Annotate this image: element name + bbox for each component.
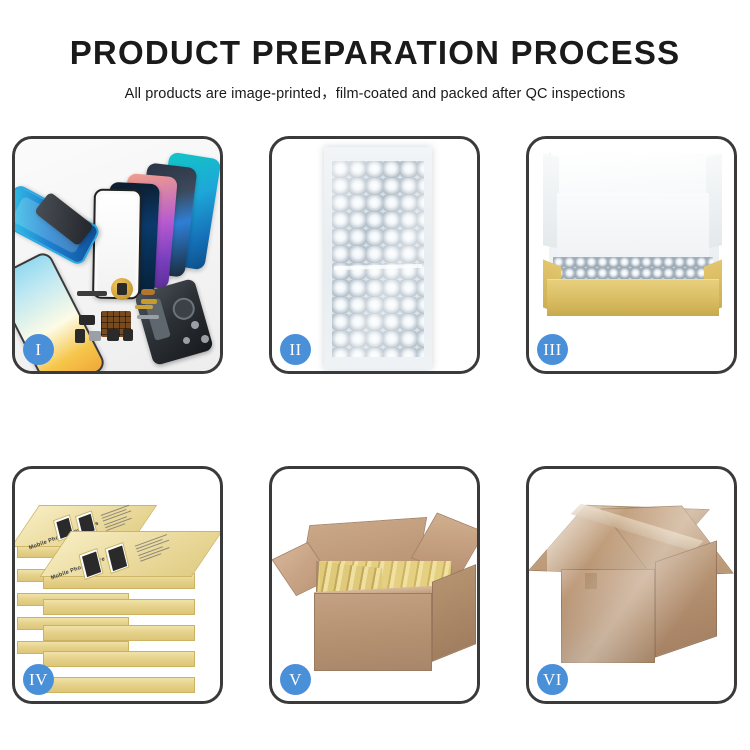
small-module-icon [123, 329, 133, 341]
step-panel-inner-box-packing[interactable]: III [526, 136, 737, 374]
step-badge-3: III [537, 334, 568, 365]
carton-tab-upper [585, 573, 597, 589]
screw-icon [183, 337, 190, 344]
step-panel-stacked-retail-boxes[interactable]: Mobile Phone Spare Parts Mobile Phone Sp… [12, 466, 223, 704]
process-step-grid: I II [12, 136, 738, 704]
step-panel-bubble-wrap-packaging[interactable]: II [269, 136, 480, 374]
carton-front-face [314, 593, 432, 671]
carton-tab-lower [587, 645, 601, 659]
step-badge-1: I [23, 334, 54, 365]
flex-cable-gold-icon [135, 305, 153, 309]
speaker-part-icon [79, 315, 95, 325]
screw-icon [191, 321, 199, 329]
step-badge-5: V [280, 664, 311, 695]
page-subtitle: All products are image-printed，film-coat… [0, 82, 750, 103]
page-title: PRODUCT PREPARATION PROCESS [0, 36, 750, 71]
bubble-wrap-sheet [324, 147, 432, 369]
metal-bracket-icon [89, 331, 101, 341]
retail-box-front-4 [43, 651, 195, 667]
box-inner-surface [557, 193, 709, 265]
button-part-icon [107, 329, 119, 341]
retail-box-front-3 [43, 625, 195, 641]
box-front-gold [547, 279, 719, 316]
sealed-carton-front-face [561, 569, 655, 663]
step-panel-carton-filling[interactable]: V [269, 466, 480, 704]
step-badge-4: IV [23, 664, 54, 695]
screw-icon [201, 335, 209, 343]
step-badge-2: II [280, 334, 311, 365]
sim-tray-icon [75, 329, 85, 343]
retail-box-front-5 [43, 677, 195, 693]
header: PRODUCT PREPARATION PROCESS All products… [0, 36, 750, 103]
carton-side-face [432, 564, 476, 662]
step-panel-phone-screens-and-parts[interactable]: I [12, 136, 223, 374]
antenna-strip-icon [137, 315, 159, 319]
product-preparation-infographic: PRODUCT PREPARATION PROCESS All products… [0, 0, 750, 750]
flex-cable-icon [77, 291, 107, 296]
plastic-sheen-overlay [332, 161, 424, 357]
sealed-carton-side-face [655, 540, 717, 657]
camera-module-icon [111, 278, 133, 300]
retail-box-front-2 [43, 599, 195, 615]
vibrator-part-icon [141, 289, 155, 295]
step-panel-sealed-carton[interactable]: VI [526, 466, 737, 704]
gold-contact-part-icon [141, 299, 157, 304]
step-badge-6: VI [537, 664, 568, 695]
